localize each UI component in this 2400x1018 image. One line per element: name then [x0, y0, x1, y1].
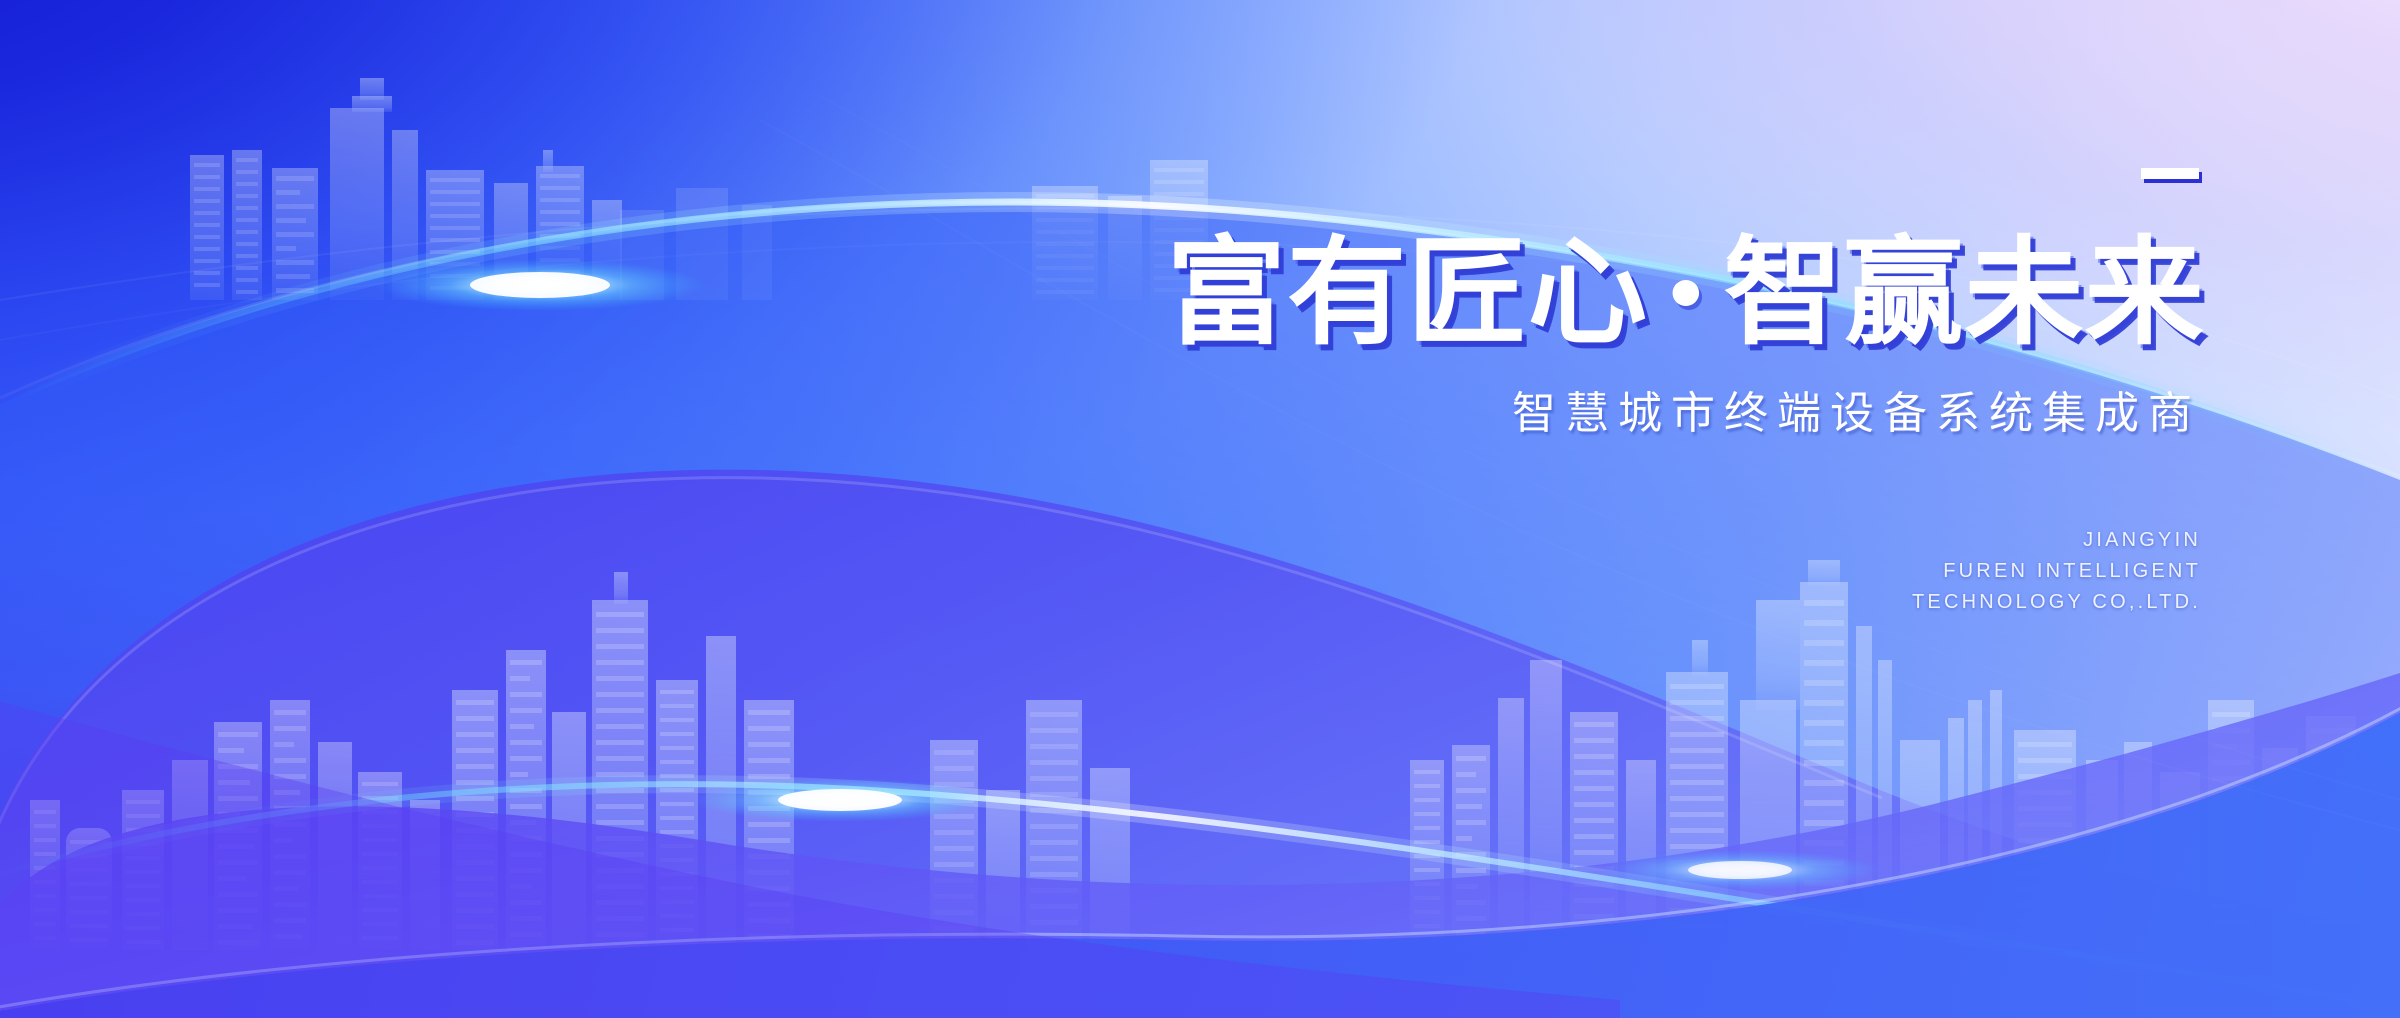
- page-subtitle: 智慧城市终端设备系统集成商: [1025, 377, 2205, 441]
- company-line-3: TECHNOLOGY CO,.LTD.: [1025, 587, 2201, 618]
- tick-dash-icon: [2141, 168, 2199, 179]
- company-line-2: FUREN INTELLIGENT: [1025, 556, 2201, 587]
- promotional-banner: 富有匠心智赢未来 智慧城市终端设备系统集成商 JIANGYIN FUREN IN…: [0, 0, 2400, 1018]
- company-line-1: JIANGYIN: [1025, 525, 2201, 556]
- company-name-block: JIANGYIN FUREN INTELLIGENT TECHNOLOGY CO…: [1025, 525, 2205, 618]
- title-left-text: 富有匠心: [1167, 227, 1648, 358]
- title-separator-dot-icon: [1673, 280, 1700, 306]
- page-title: 富有匠心智赢未来: [1001, 234, 2205, 351]
- title-right-text: 智赢未来: [1724, 227, 2205, 358]
- headline-block: 富有匠心智赢未来 智慧城市终端设备系统集成商 JIANGYIN FUREN IN…: [1025, 168, 2205, 618]
